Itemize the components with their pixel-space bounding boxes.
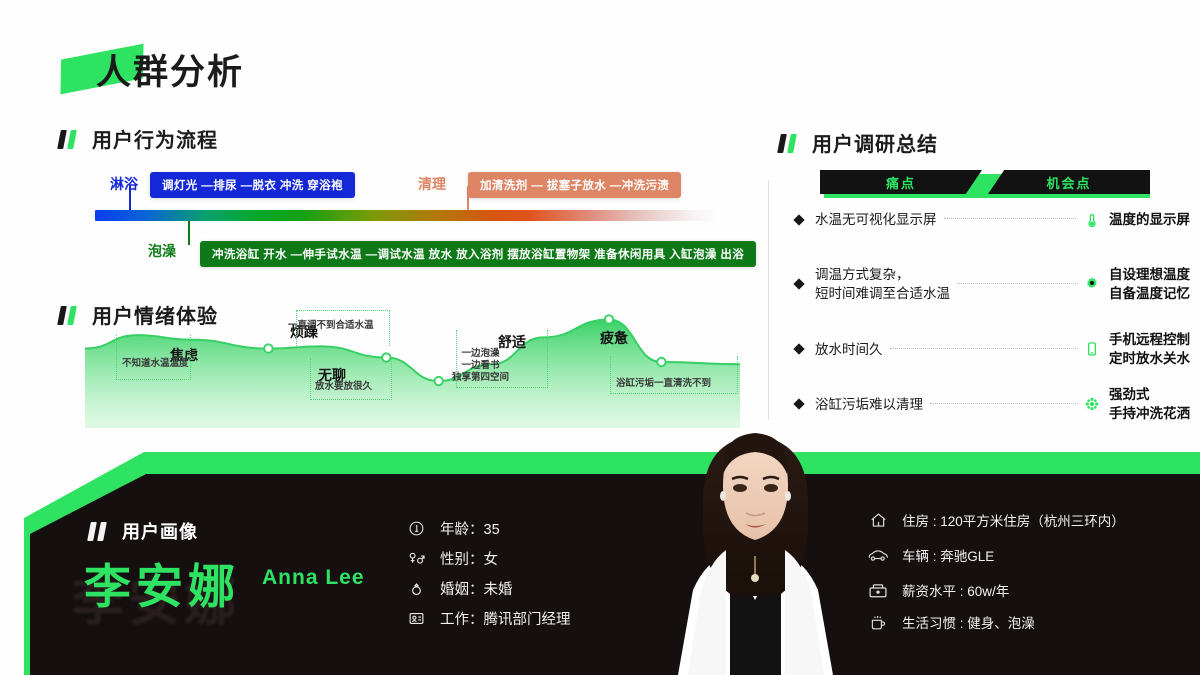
row-connector [890,348,1077,349]
section-heading-research: 用户调研总结 [778,128,938,157]
row-connector [957,283,1076,284]
persona-name-en: Anna Lee [262,566,365,590]
section-heading-flow: 用户行为流程 [58,124,218,153]
slide-canvas: 人群分析 用户行为流程 淋浴调灯光 —排尿 —脱衣 冲洗 穿浴袍泡澡冲洗浴缸 开… [0,0,1200,675]
persona-field-label: 年龄：35 [440,518,500,539]
heading-bars-icon [58,304,80,326]
flow-stage-label-1: 泡澡 [148,241,176,261]
row-connector [944,218,1077,219]
persona-field: 性别：女 [406,548,498,569]
page-title-text: 人群分析 [96,44,244,95]
persona-field: 生活习惯 : 健身、泡澡 [868,612,1035,632]
emotion-note-2: 放水要放很久 [315,381,372,393]
persona-field: 工作：腾讯部门经理 [406,608,571,629]
emotion-point [657,358,665,366]
research-row: 水温无可视化显示屏 温度的显示屏 [795,210,1190,229]
emotion-point [382,353,390,361]
pain-point-text: 放水时间久 [815,340,883,359]
bullet-diamond-icon [793,278,804,289]
emotion-note-1: 一直调不到合适水温 [288,320,374,332]
persona-field: 薪资水平 : 60w/年 [868,580,1009,600]
flow-stage-tick-1 [188,221,190,245]
section-heading-persona: 用户画像 [88,518,198,544]
row-connector [930,403,1076,404]
persona-field: 车辆 : 奔驰GLE [868,545,994,565]
opportunity-text: 温度的显示屏 [1109,210,1190,229]
flow-stage-tick-0 [129,186,131,210]
phone-icon [1083,340,1101,358]
heading-bars-icon [88,520,110,542]
persona-name-cn: 李安娜 [84,548,240,617]
flow-stage-steps-2: 加清洗剂 — 拔塞子放水 —冲洗污渍 [468,172,681,198]
persona-field-label: 住房 : 120平方米住房（杭州三环内） [902,510,1125,530]
research-row: 调温方式复杂，短时间难调至合适水温 自设理想温度自备温度记忆 [795,265,1190,303]
info-circle-icon [406,519,426,539]
persona-field-label: 婚姻：未婚 [440,578,513,599]
panel-divider [768,180,769,420]
persona-field: 住房 : 120平方米住房（杭州三环内） [868,510,1125,530]
emotion-note-0: 不知道水温温度 [122,358,189,370]
opportunity-text: 自设理想温度自备温度记忆 [1109,265,1190,303]
ring-icon [406,579,426,599]
pain-opportunity-header: 痛点 机会点 [820,170,1150,196]
opportunity-header-cell: 机会点 [988,170,1150,194]
flow-stage-label-0: 淋浴 [110,174,138,194]
emotion-point [264,344,272,352]
persona-field-label: 薪资水平 : 60w/年 [902,580,1009,600]
wallet-icon [868,580,888,600]
section-heading-persona-label: 用户画像 [122,518,198,544]
bullet-diamond-icon [793,214,804,225]
persona-field-label: 性别：女 [440,548,498,569]
heading-bars-icon [778,132,800,154]
pain-header-cell: 痛点 [820,170,982,194]
bullet-diamond-icon [793,343,804,354]
home-icon [868,510,888,530]
car-icon [868,545,888,565]
persona-field: 婚姻：未婚 [406,578,513,599]
opportunity-text: 强劲式手持冲洗花洒 [1109,385,1190,423]
pain-point-text: 调温方式复杂，短时间难调至合适水温 [815,265,950,303]
spray-icon [1083,395,1101,413]
persona-field-label: 工作：腾讯部门经理 [440,608,571,629]
heading-bars-icon [58,128,80,150]
persona-photo [648,400,863,675]
emotion-point [605,315,613,323]
emotion-label-4: 疲惫 [600,328,628,348]
flow-stage-steps-0: 调灯光 —排尿 —脱衣 冲洗 穿浴袍 [150,172,355,198]
pain-point-text: 水温无可视化显示屏 [815,210,937,229]
pain-header-label: 痛点 [886,173,916,192]
emotion-area [85,319,740,428]
emotion-point [435,377,443,385]
flow-timeline-gradient-bar [95,210,715,221]
persona-field-label: 车辆 : 奔驰GLE [902,545,994,565]
emotion-note-3: 一边泡澡一边看书独享第四空间 [452,348,509,384]
emotion-note-4: 浴缸污垢一直清洗不到 [616,378,711,390]
opportunity-header-label: 机会点 [1046,173,1091,192]
gear-icon [1083,275,1101,293]
cup-icon [868,612,888,632]
id-card-icon [406,609,426,629]
persona-field: 年龄：35 [406,518,500,539]
section-heading-flow-label: 用户行为流程 [92,124,218,153]
flow-stage-steps-1: 冲洗浴缸 开水 —伸手试水温 —调试水温 放水 放入浴剂 摆放浴缸置物架 准备休… [200,241,756,267]
flow-stage-label-2: 清理 [418,174,446,194]
thermometer-icon [1083,211,1101,229]
gender-icon [406,549,426,569]
opportunity-text: 手机远程控制定时放水关水 [1109,330,1190,368]
persona-field-label: 生活习惯 : 健身、泡澡 [902,612,1035,632]
section-heading-research-label: 用户调研总结 [812,128,938,157]
research-row: 放水时间久 手机远程控制定时放水关水 [795,330,1190,368]
